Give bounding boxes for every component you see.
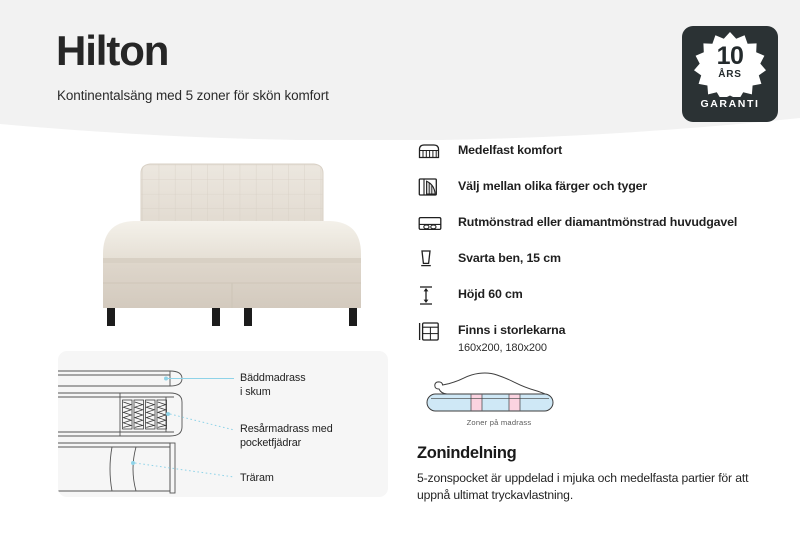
starburst-icon: 10 ÅRS xyxy=(694,31,766,97)
guarantee-badge: 10 ÅRS GARANTI xyxy=(682,26,778,122)
feature-text: Höjd 60 cm xyxy=(458,284,523,303)
feature-text: Rutmönstrad eller diamantmönstrad huvudg… xyxy=(458,212,737,231)
badge-number: 10 xyxy=(694,44,766,69)
fabric-swatch-icon xyxy=(418,176,444,198)
diagram-label-line2: pocketfjädrar xyxy=(240,437,301,449)
feature-label: Välj mellan olika färger och tyger xyxy=(458,179,647,195)
zone-figure-caption: Zoner på madrass xyxy=(439,418,559,427)
height-arrow-icon xyxy=(418,284,444,306)
zone-mattress-figure: Zoner på madrass xyxy=(417,366,567,416)
badge-years-label: ÅRS xyxy=(694,70,766,80)
feature-label: Svarta ben, 15 cm xyxy=(458,251,561,267)
diagram-label-line1: Resårmadrass med xyxy=(240,423,333,435)
feature-text: Finns i storlekarna 160x200, 180x200 xyxy=(458,320,565,355)
feature-row-sizes: Finns i storlekarna 160x200, 180x200 xyxy=(418,320,786,355)
diagram-label-line1: Träram xyxy=(240,472,274,484)
headboard-icon xyxy=(418,212,444,234)
feature-text: Svarta ben, 15 cm xyxy=(458,248,561,267)
feature-row-fabric: Välj mellan olika färger och tyger xyxy=(418,176,786,198)
feature-text: Medelfast komfort xyxy=(458,140,562,159)
diagram-label-wooden-frame: Träram xyxy=(240,471,274,485)
diagram-label-line1: Bäddmadrass xyxy=(240,372,306,384)
feature-sizes-value: 160x200, 180x200 xyxy=(458,341,565,356)
zone-description: 5-zonspocket är uppdelad i mjuka och med… xyxy=(417,470,749,505)
diagram-label-line2: i skum xyxy=(240,386,271,398)
product-image xyxy=(62,136,402,334)
zone-section: Zoner på madrass Zonindelning 5-zonspock… xyxy=(417,366,777,505)
feature-row-height: Höjd 60 cm xyxy=(418,284,786,306)
bed-leg-icon xyxy=(418,248,444,270)
badge-guarantee-word: GARANTI xyxy=(700,98,759,110)
feature-label: Rutmönstrad eller diamantmönstrad huvudg… xyxy=(458,215,737,231)
feature-row-comfort: Medelfast komfort xyxy=(418,140,786,162)
page-subtitle: Kontinentalsäng med 5 zoner för skön kom… xyxy=(57,88,329,103)
cross-section-diagram: Bäddmadrass i skum Resårmadrass med pock… xyxy=(58,351,388,497)
feature-row-headboard: Rutmönstrad eller diamantmönstrad huvudg… xyxy=(418,212,786,234)
product-infographic: Hilton Kontinentalsäng med 5 zoner för s… xyxy=(0,0,800,533)
page-title: Hilton xyxy=(56,30,168,72)
bed-size-icon xyxy=(418,320,444,342)
feature-list: Medelfast komfort Välj mellan olika färg… xyxy=(418,140,786,355)
diagram-label-topper: Bäddmadrass i skum xyxy=(240,371,306,400)
diagram-label-spring-mattress: Resårmadrass med pocketfjädrar xyxy=(240,422,333,451)
feature-label: Medelfast komfort xyxy=(458,143,562,159)
feature-text: Välj mellan olika färger och tyger xyxy=(458,176,647,195)
zone-title: Zonindelning xyxy=(417,444,777,463)
mattress-firmness-icon xyxy=(418,140,444,162)
feature-row-legs: Svarta ben, 15 cm xyxy=(418,248,786,270)
feature-label: Höjd 60 cm xyxy=(458,287,523,303)
feature-label: Finns i storlekarna xyxy=(458,323,565,339)
